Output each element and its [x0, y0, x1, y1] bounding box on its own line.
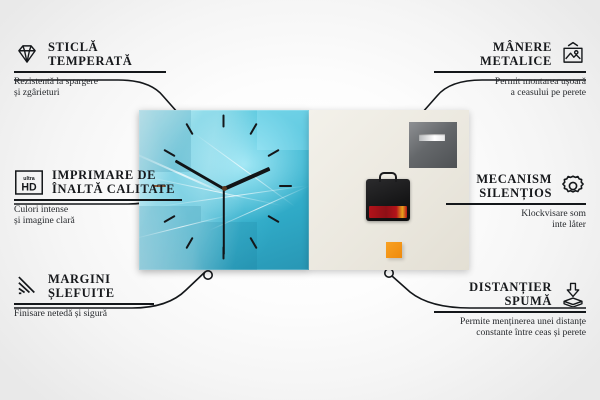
svg-text:HD: HD	[21, 181, 37, 193]
tick-4	[267, 215, 279, 223]
foam-spacer-icon	[560, 281, 586, 307]
callout-title: MÂNERE METALICE	[480, 40, 552, 68]
mechanism-loop	[379, 172, 397, 182]
callout-rule	[434, 71, 586, 73]
callout-subtitle: Klockvisare som inte låter	[446, 208, 586, 231]
tick-2	[267, 149, 279, 157]
callout-subtitle: Rezistentă la spargere și zgârieturi	[14, 76, 166, 99]
battery	[369, 206, 407, 218]
hand-center-cap	[222, 186, 227, 191]
tick-12	[223, 115, 225, 128]
gear-icon	[560, 173, 586, 199]
clock-back-panel	[309, 110, 469, 270]
hatched-edge-icon	[14, 273, 40, 299]
diamond-icon	[14, 41, 40, 67]
second-hand	[223, 189, 225, 255]
callout-subtitle: Finisare netedă și sigură	[14, 308, 154, 320]
picture-hanger-icon	[560, 41, 586, 67]
foam-spacer	[386, 242, 402, 258]
callout-title: MARGINI ȘLEFUITE	[48, 272, 115, 300]
tick-3	[279, 185, 292, 187]
metal-hanger	[409, 122, 457, 168]
infographic-stage: STICLĂ TEMPERATĂ Rezistentă la spargere …	[0, 0, 600, 400]
callout-title: DISTANȚIER SPUMĂ	[469, 280, 552, 308]
callout-rule	[434, 311, 586, 313]
callout-title: STICLĂ TEMPERATĂ	[48, 40, 132, 68]
callout-margini-slefuite: MARGINI ȘLEFUITE Finisare netedă și sigu…	[14, 272, 154, 319]
hanger-slot	[419, 134, 445, 141]
callout-rule	[446, 203, 586, 205]
callout-imprimare-calitate: ultra HD IMPRIMARE DE ÎNALTĂ CALITATE Cu…	[14, 168, 182, 227]
callout-rule	[14, 71, 166, 73]
callout-subtitle: Permit montarea ușoară a ceasului pe per…	[434, 76, 586, 99]
callout-title: IMPRIMARE DE ÎNALTĂ CALITATE	[52, 168, 175, 196]
callout-subtitle: Permite menținerea unei distanțe constan…	[434, 316, 586, 339]
callout-sticla-temperata: STICLĂ TEMPERATĂ Rezistentă la spargere …	[14, 40, 166, 99]
callout-rule	[14, 199, 182, 201]
callout-rule	[14, 303, 154, 305]
callout-subtitle: Culori intense și imagine clară	[14, 204, 182, 227]
callout-distantier-spuma: DISTANȚIER SPUMĂ Permite menținerea unei…	[434, 280, 586, 339]
callout-manere-metalice: MÂNERE METALICE Permit montarea ușoară a…	[434, 40, 586, 99]
callout-title: MECANISM SILENȚIOS	[476, 172, 552, 200]
quartz-mechanism	[366, 179, 410, 221]
ultra-hd-icon: ultra HD	[14, 169, 44, 196]
callout-mecanism-silentios: MECANISM SILENȚIOS Klockvisare som inte …	[446, 172, 586, 231]
